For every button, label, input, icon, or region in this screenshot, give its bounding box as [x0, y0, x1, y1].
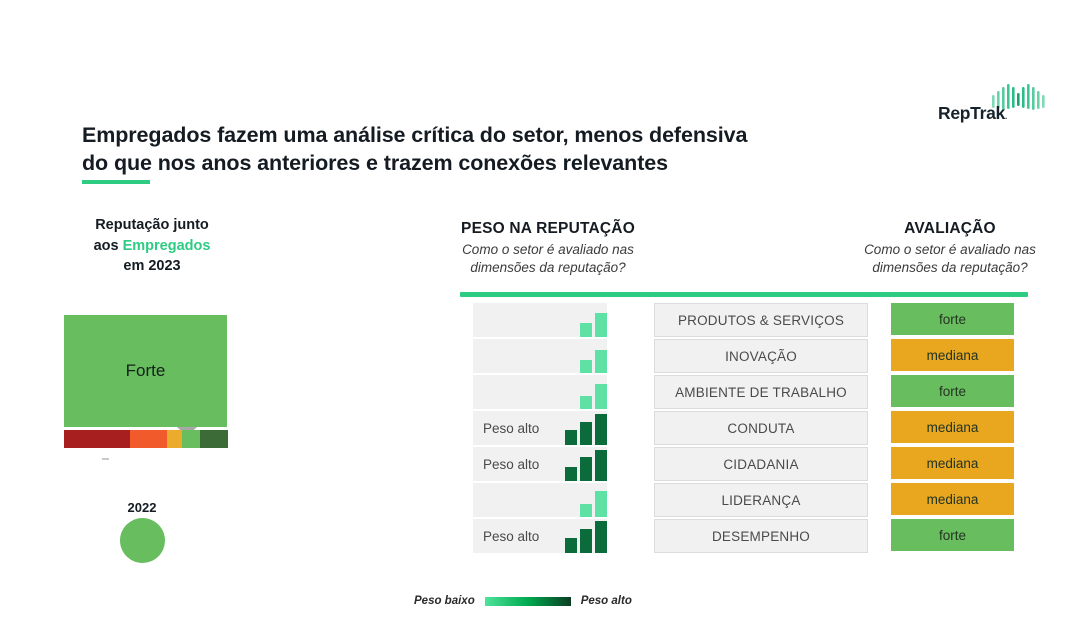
- evaluation-cell: mediana: [891, 339, 1014, 371]
- weight-column-header: PESO NA REPUTAÇÃO Como o setor é avaliad…: [452, 220, 644, 277]
- left-heading-line-3: em 2023: [62, 256, 242, 277]
- reptrak-logo: RepTrak.: [938, 82, 1048, 127]
- dimension-cell: CONDUTA: [654, 411, 868, 445]
- evaluation-label: mediana: [927, 492, 979, 507]
- evaluation-cell: forte: [891, 519, 1014, 551]
- weight-cell: [473, 483, 607, 517]
- weight-cell: [473, 375, 607, 409]
- weight-bar-1: [565, 538, 577, 553]
- evaluation-column-subtitle: Como o setor é avaliado nas dimensões da…: [852, 241, 1048, 277]
- weight-bar-1: [580, 396, 592, 409]
- evaluation-label: mediana: [927, 420, 979, 435]
- dimension-label: CONDUTA: [727, 421, 794, 436]
- table-row: PRODUTOS & SERVIÇOSforte: [0, 303, 1079, 337]
- weight-column-title: PESO NA REPUTAÇÃO: [452, 220, 644, 238]
- page-title-line-2: do que nos anos anteriores e trazem cone…: [82, 149, 912, 177]
- section-accent-rule: [460, 292, 1028, 297]
- evaluation-column-header: AVALIAÇÃO Como o setor é avaliado nas di…: [852, 220, 1048, 277]
- dimension-cell: CIDADANIA: [654, 447, 868, 481]
- evaluation-label: mediana: [927, 348, 979, 363]
- dimension-label: INOVAÇÃO: [725, 349, 797, 364]
- evaluation-label: forte: [939, 528, 966, 543]
- dimension-cell: DESEMPENHO: [654, 519, 868, 553]
- page-title: Empregados fazem uma análise crítica do …: [82, 121, 912, 178]
- legend-gradient-bar: [485, 597, 571, 606]
- weight-bar-1: [580, 360, 592, 373]
- weight-bar-3: [595, 414, 607, 445]
- weight-bar-1: [580, 323, 592, 337]
- weight-bars: [580, 339, 607, 373]
- evaluation-cell: mediana: [891, 411, 1014, 443]
- weight-bar-2: [580, 529, 592, 553]
- left-heading-prefix: aos: [94, 238, 123, 254]
- left-heading-line-1: Reputação junto: [62, 215, 242, 236]
- left-heading-line-2: aos Empregados: [62, 236, 242, 257]
- evaluation-cell: mediana: [891, 483, 1014, 515]
- evaluation-label: forte: [939, 312, 966, 327]
- weight-bars: [565, 519, 607, 553]
- dimension-label: PRODUTOS & SERVIÇOS: [678, 313, 844, 328]
- evaluation-label: mediana: [927, 456, 979, 471]
- weight-cell: [473, 303, 607, 337]
- evaluation-cell: forte: [891, 375, 1014, 407]
- weight-bar-3: [595, 521, 607, 553]
- weight-legend: Peso baixo Peso alto: [414, 592, 644, 610]
- evaluation-subtitle-line-1: Como o setor é avaliado nas: [852, 241, 1048, 259]
- dimension-label: DESEMPENHO: [712, 529, 810, 544]
- weight-bar-2: [580, 457, 592, 481]
- weight-bar-1: [580, 504, 592, 517]
- weight-bar-1: [565, 430, 577, 445]
- weight-cell: Peso alto: [473, 519, 607, 553]
- table-row: INOVAÇÃOmediana: [0, 339, 1079, 373]
- logo-wordmark: RepTrak.: [938, 103, 1007, 124]
- left-heading-highlight: Empregados: [123, 238, 211, 254]
- evaluation-column-title: AVALIAÇÃO: [852, 220, 1048, 238]
- dimension-cell: PRODUTOS & SERVIÇOS: [654, 303, 868, 337]
- weight-cell: Peso alto: [473, 411, 607, 445]
- logo-trademark: .: [1005, 112, 1007, 121]
- weight-bar-2: [580, 422, 592, 445]
- weight-bar-2: [595, 313, 607, 337]
- table-row: LIDERANÇAmediana: [0, 483, 1079, 517]
- reputation-dimension-matrix: PRODUTOS & SERVIÇOSforteINOVAÇÃOmedianaA…: [0, 303, 1079, 558]
- evaluation-subtitle-line-2: dimensões da reputação?: [852, 259, 1048, 277]
- weight-bar-1: [565, 467, 577, 481]
- weight-cell-label: Peso alto: [483, 421, 539, 436]
- weight-subtitle-line-2: dimensões da reputação?: [452, 259, 644, 277]
- title-underline-rule: [82, 180, 150, 184]
- weight-bars: [565, 447, 607, 481]
- evaluation-cell: mediana: [891, 447, 1014, 479]
- weight-bars: [580, 483, 607, 517]
- weight-cell: Peso alto: [473, 447, 607, 481]
- dimension-cell: INOVAÇÃO: [654, 339, 868, 373]
- weight-cell-label: Peso alto: [483, 529, 539, 544]
- table-row: Peso altoCONDUTAmediana: [0, 411, 1079, 445]
- legend-high-label: Peso alto: [581, 595, 632, 607]
- logo-word-text: RepTrak: [938, 103, 1005, 123]
- left-panel-heading: Reputação junto aos Empregados em 2023: [62, 215, 242, 277]
- dimension-label: CIDADANIA: [723, 457, 798, 472]
- weight-subtitle-line-1: Como o setor é avaliado nas: [452, 241, 644, 259]
- weight-bar-2: [595, 350, 607, 373]
- table-row: AMBIENTE DE TRABALHOforte: [0, 375, 1079, 409]
- dimension-label: LIDERANÇA: [721, 493, 800, 508]
- evaluation-cell: forte: [891, 303, 1014, 335]
- page-title-line-1: Empregados fazem uma análise crítica do …: [82, 121, 912, 149]
- table-row: Peso altoDESEMPENHOforte: [0, 519, 1079, 553]
- dimension-cell: LIDERANÇA: [654, 483, 868, 517]
- weight-bars: [565, 411, 607, 445]
- weight-bar-3: [595, 450, 607, 481]
- weight-column-subtitle: Como o setor é avaliado nas dimensões da…: [452, 241, 644, 277]
- table-row: Peso altoCIDADANIAmediana: [0, 447, 1079, 481]
- weight-bar-2: [595, 491, 607, 517]
- weight-bars: [580, 375, 607, 409]
- weight-bars: [580, 303, 607, 337]
- weight-cell-label: Peso alto: [483, 457, 539, 472]
- legend-low-label: Peso baixo: [414, 595, 475, 607]
- dimension-label: AMBIENTE DE TRABALHO: [675, 385, 847, 400]
- weight-bar-2: [595, 384, 607, 409]
- dimension-cell: AMBIENTE DE TRABALHO: [654, 375, 868, 409]
- weight-cell: [473, 339, 607, 373]
- evaluation-label: forte: [939, 384, 966, 399]
